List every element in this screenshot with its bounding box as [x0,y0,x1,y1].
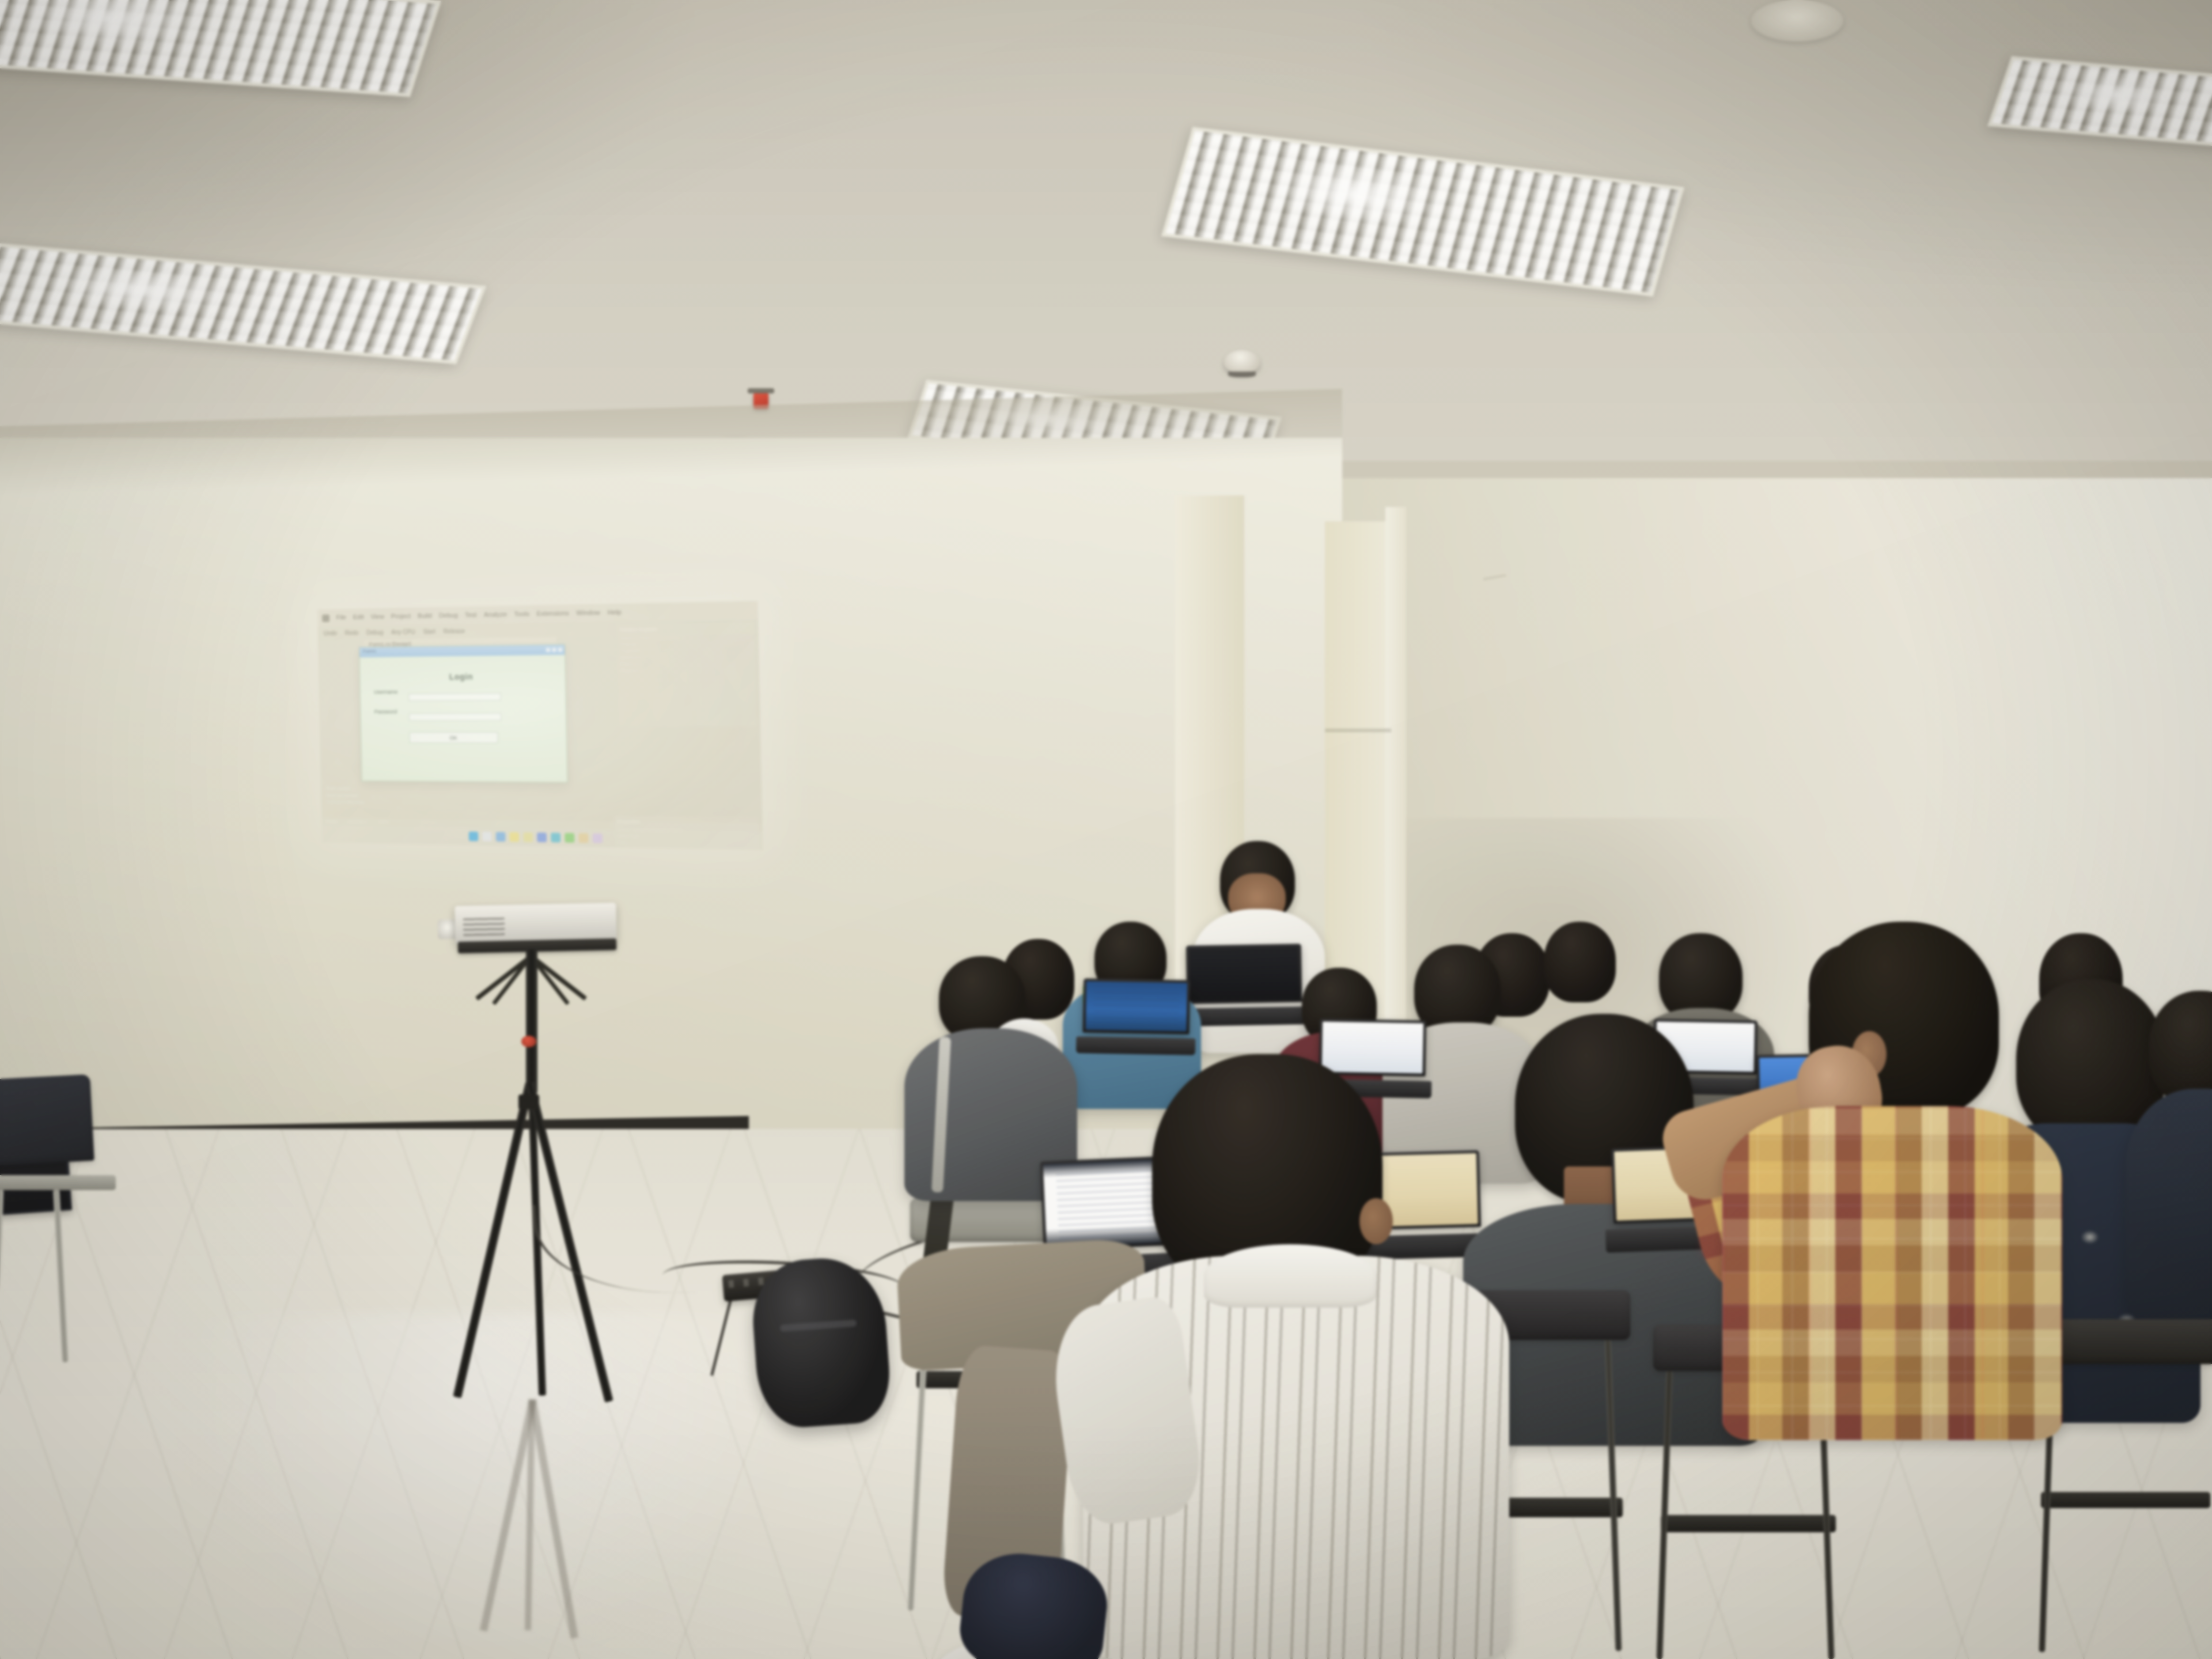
submit-button[interactable]: OK [409,732,498,744]
zoom-level: 100% [378,820,389,824]
taskbar-icon[interactable] [469,832,479,842]
username-input[interactable] [408,693,501,701]
student-far-right [2126,991,2212,1313]
toolbar-undo-button[interactable]: Undo [324,630,338,637]
form-row-password: Password [374,707,553,725]
output-panel[interactable]: Build started... Build succeeded. 0 Erro… [327,785,658,819]
taskbar-icon[interactable] [482,832,492,842]
menu-item-analyze[interactable]: Analyze [484,611,507,619]
chair-seat [1661,1515,1836,1532]
menu-item-edit[interactable]: Edit [353,614,364,621]
classroom-photo: File Edit View Project Build Debug Test … [0,0,2212,1659]
panel-title: Solution Explorer [620,624,752,634]
status-text: Ready [326,820,338,824]
plaid-torso [1722,1106,2062,1440]
form-row-username: Username [374,687,552,706]
chair-empty[interactable] [0,1077,121,1377]
tripod-leg-clamp[interactable] [518,1094,539,1109]
menu-item-tools[interactable]: Tools [514,611,529,618]
menu-item-build[interactable]: Build [418,612,432,620]
tripod-center-column [526,949,537,1093]
chair-seat [2041,1492,2210,1508]
form-title-caption: Form1 [363,649,376,654]
taskbar-icon[interactable] [565,833,574,843]
chair-leg [53,1190,69,1362]
menu-item-project[interactable]: Project [391,613,411,620]
taskbar-icon[interactable] [593,834,603,843]
toolbar-release-select[interactable]: Release [444,628,465,635]
taskbar-icon[interactable] [537,832,547,842]
taskbar-icon[interactable] [578,833,588,843]
form-titlebar [359,645,565,657]
toolbar-start-button[interactable]: Start [423,628,435,635]
menu-item-test[interactable]: Test [465,612,477,619]
tripod-adjust-knob[interactable] [521,1036,536,1047]
head [1544,922,1616,1002]
close-icon[interactable] [558,647,562,652]
menu-item-window[interactable]: Window [576,609,600,617]
laptop-lid [1083,978,1191,1034]
form-designer-window[interactable]: Form1 Login Username Password OK [359,644,568,783]
screen-text-lines [1094,986,1179,1026]
solution-explorer-panel[interactable]: Solution Explorer Solution 'Project1' (1… [616,622,756,726]
maximize-icon[interactable] [552,648,556,652]
chair-leg [0,1190,3,1362]
projected-screen: File Edit View Project Build Debug Test … [317,601,763,850]
taskbar-icon[interactable] [523,832,533,842]
taskbar-icon[interactable] [496,832,506,842]
laptop [1082,978,1190,1055]
ear [1359,1198,1393,1244]
chair-leg [1605,1340,1622,1651]
laptop-base [1076,1037,1196,1055]
taskbar-icon[interactable] [509,832,519,842]
tree-item[interactable]: Program.cs [620,666,752,675]
projector [454,903,616,944]
toolbar-redo-button[interactable]: Redo [345,630,359,636]
menu-item-extensions[interactable]: Extensions [536,610,569,618]
cursor-position: Ln 1 Col 1 [349,820,367,824]
form-heading: Login [360,671,566,683]
wall-column-middle [1325,521,1391,1040]
smoke-detector-icon [1224,350,1260,373]
menu-item-view[interactable]: View [370,613,384,621]
taskbar-icon[interactable] [551,833,560,843]
menu-item-file[interactable]: File [336,614,347,621]
chair-seat [0,1175,116,1190]
password-label: Password [374,709,408,714]
toolbar-debug-select[interactable]: Debug [366,630,383,637]
shirt-collar [1204,1244,1377,1308]
laptop-screen [1086,981,1187,1031]
student-plaid-shirt [1705,922,2062,1440]
ceiling-air-diffuser [1751,0,1843,41]
toolbar-platform-select[interactable]: Any CPU [391,629,415,636]
menu-item-debug[interactable]: Debug [439,612,458,619]
wall-seam [1325,729,1391,732]
torso [2126,1089,2212,1319]
menu-item-help[interactable]: Help [607,609,621,616]
chair-back [0,1074,94,1166]
username-label: Username [374,689,407,695]
password-input[interactable] [409,713,502,721]
app-logo-icon [322,614,329,622]
minimize-icon[interactable] [546,648,550,652]
student-striped-shirt [1083,1054,1509,1659]
